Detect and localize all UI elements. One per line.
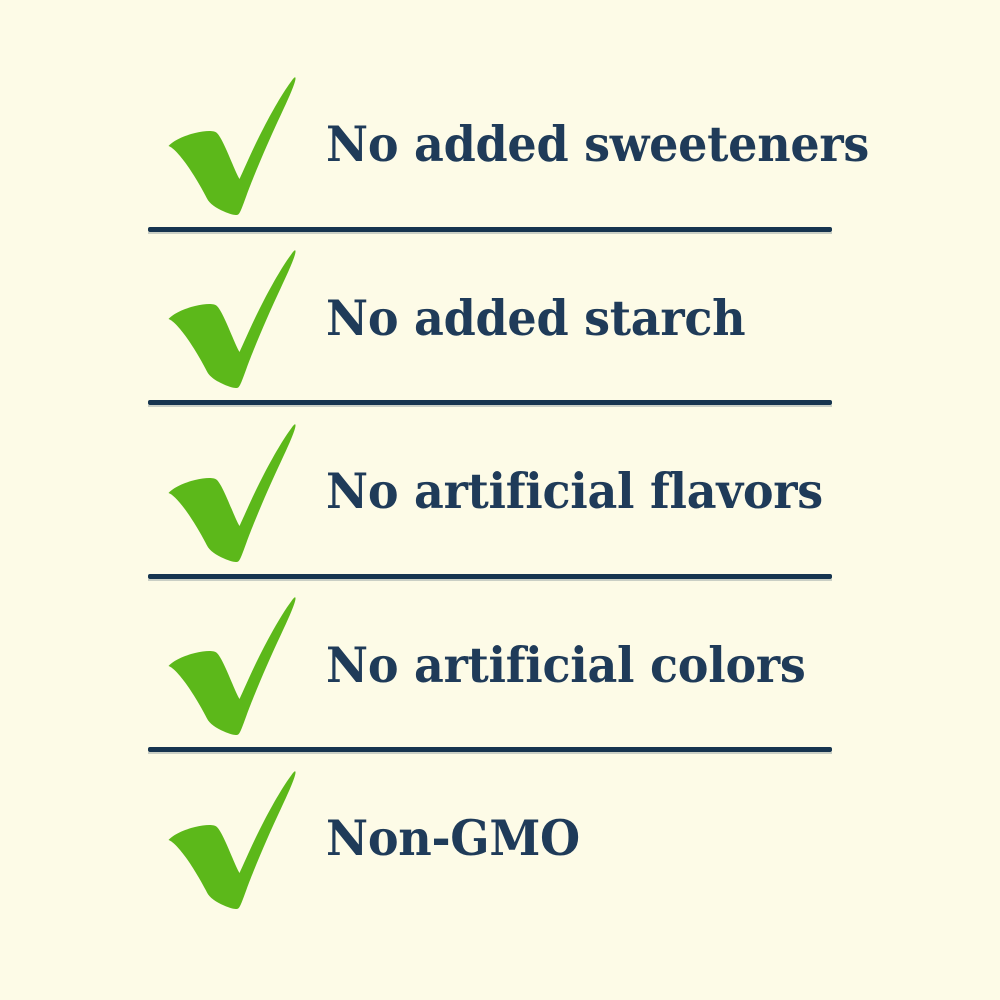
list-item: No artificial flavors: [148, 405, 832, 579]
check-icon: [164, 243, 314, 393]
check-icon: [164, 417, 314, 567]
list-item: Non-GMO: [148, 752, 832, 926]
check-icon: [164, 764, 314, 914]
benefit-label: No added starch: [326, 293, 802, 344]
benefit-label: Non-GMO: [326, 813, 802, 864]
product-benefits-checklist: No added sweeteners No added starch No a…: [0, 0, 1000, 1000]
benefit-list: No added sweeteners No added starch No a…: [148, 58, 832, 926]
benefit-label: No artificial colors: [326, 640, 806, 691]
check-icon: [164, 70, 314, 220]
list-item: No added sweeteners: [148, 58, 832, 232]
benefit-label: No added sweeteners: [326, 119, 869, 170]
check-icon: [164, 590, 314, 740]
list-item: No added starch: [148, 232, 832, 406]
benefit-label: No artificial flavors: [326, 466, 823, 517]
list-item: No artificial colors: [148, 579, 832, 753]
